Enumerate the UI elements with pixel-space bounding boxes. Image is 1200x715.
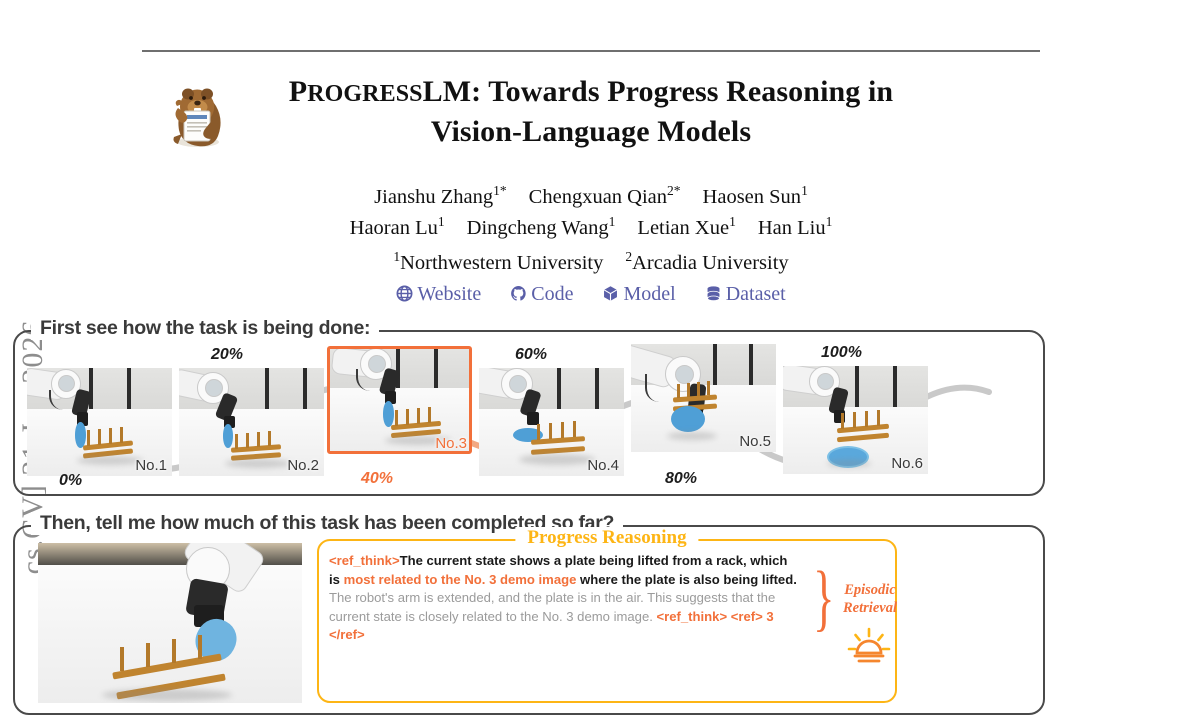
author-affil-marker: 1 (609, 214, 616, 229)
link-model-label: Model (623, 283, 675, 305)
demo-frame-label: No.3 (435, 435, 467, 452)
progress-reasoning-text: <ref_think>The current state shows a pla… (329, 552, 797, 645)
demo-frame-label: No.5 (739, 433, 771, 450)
link-website-label: Website (417, 283, 481, 305)
demo-frame-percent: 0% (59, 472, 82, 490)
author-item: Haosen Sun1 (703, 186, 808, 208)
demo-frame-percent: 100% (821, 344, 862, 362)
demo-frame-label: No.1 (135, 457, 167, 474)
link-model[interactable]: Model (602, 282, 675, 308)
demo-frame[interactable]: No.1 (27, 368, 172, 476)
demo-frame-strip: No.1 0% (21, 340, 1041, 488)
author-item: Han Liu1 (758, 217, 833, 239)
progress-reasoning-box: Progress Reasoning <ref_think>The curren… (317, 539, 897, 703)
github-icon (510, 285, 527, 308)
demo-frame[interactable]: No.6 (783, 366, 928, 474)
author-item: Letian Xue1 (637, 217, 735, 239)
author-item: Jianshu Zhang1* (374, 186, 507, 208)
demo-frame-label: No.4 (587, 457, 619, 474)
author-affil-marker: 1* (493, 183, 507, 198)
ref-think-close-tag: <ref_think> (657, 609, 728, 624)
demo-frame-label: No.6 (891, 455, 923, 472)
reasoning-bold-2: where the plate is also being lifted. (576, 572, 796, 587)
reasoning-orange-highlight: most related to the No. 3 demo image (344, 572, 577, 587)
demo-frame-label: No.2 (287, 457, 319, 474)
author-affil-marker: 2* (667, 183, 681, 198)
author-affil-marker: 1 (729, 214, 736, 229)
title-line2: Vision-Language Models (182, 112, 1000, 152)
cube-icon (602, 285, 619, 308)
demo-frame-highlighted[interactable]: No.3 (327, 346, 472, 454)
ref-open-tag: <ref> (731, 609, 763, 624)
demo-frame[interactable]: No.5 (631, 344, 776, 452)
link-code[interactable]: Code (510, 282, 573, 308)
author-affil-marker: 1 (826, 214, 833, 229)
author-list: Jianshu Zhang1*Chengxuan Qian2*Haosen Su… (142, 182, 1040, 244)
link-code-label: Code (531, 283, 573, 305)
author-item: Chengxuan Qian2* (529, 186, 681, 208)
author-affil-marker: 1 (801, 183, 808, 198)
demo-frame[interactable]: No.4 (479, 368, 624, 476)
demo-panel: First see how the task is being done: (13, 330, 1045, 496)
beaver-mascot-icon (164, 74, 226, 148)
demo-frame-percent: 60% (515, 346, 547, 364)
link-website[interactable]: Website (396, 282, 481, 308)
header-divider (142, 50, 1040, 52)
episodic-label-line2: Retrieval (827, 599, 913, 617)
page-title: PROGRESSLM: Towards Progress Reasoning i… (142, 72, 1040, 151)
globe-icon (396, 285, 413, 308)
ref-value: 3 (766, 609, 773, 624)
ref-think-open-tag: <ref_think> (329, 553, 400, 568)
author-affil-marker: 1 (438, 214, 445, 229)
affiliation-item: 1Northwestern University (393, 252, 603, 274)
current-state-image (38, 543, 302, 703)
author-item: Dingcheng Wang1 (467, 217, 616, 239)
title-sc-small: ROGRESS (307, 81, 422, 107)
author-item: Haoran Lu1 (350, 217, 445, 239)
link-dataset[interactable]: Dataset (705, 282, 786, 308)
demo-frame-percent: 20% (211, 346, 243, 364)
ref-close-tag: </ref> (329, 627, 365, 642)
author-row-2: Haoran Lu1Dingcheng Wang1Letian Xue1Han … (142, 213, 1040, 244)
demo-frame-percent: 80% (665, 470, 697, 488)
link-dataset-label: Dataset (726, 283, 786, 305)
sun-icon (847, 627, 891, 667)
progress-reasoning-title: Progress Reasoning (515, 527, 698, 549)
title-sc-large: P (289, 75, 307, 108)
affiliation-item: 2Arcadia University (625, 252, 788, 274)
episodic-label-line1: Episodic (827, 581, 913, 599)
demo-frame[interactable]: No.2 (179, 368, 324, 476)
query-panel: Then, tell me how much of this task has … (13, 525, 1045, 715)
demo-frame-percent: 40% (361, 470, 393, 488)
affiliation-list: 1Northwestern University2Arcadia Univers… (142, 252, 1040, 275)
database-icon (705, 285, 722, 308)
title-block: PROGRESSLM: Towards Progress Reasoning i… (142, 72, 1040, 151)
episodic-retrieval-label: Episodic Retrieval (827, 581, 913, 617)
demo-panel-legend: First see how the task is being done: (31, 317, 379, 340)
resource-links: Website Code Model Dataset (142, 282, 1040, 308)
author-row-1: Jianshu Zhang1*Chengxuan Qian2*Haosen Su… (142, 182, 1040, 213)
title-line1-rest: LM: Towards Progress Reasoning in (423, 75, 894, 108)
